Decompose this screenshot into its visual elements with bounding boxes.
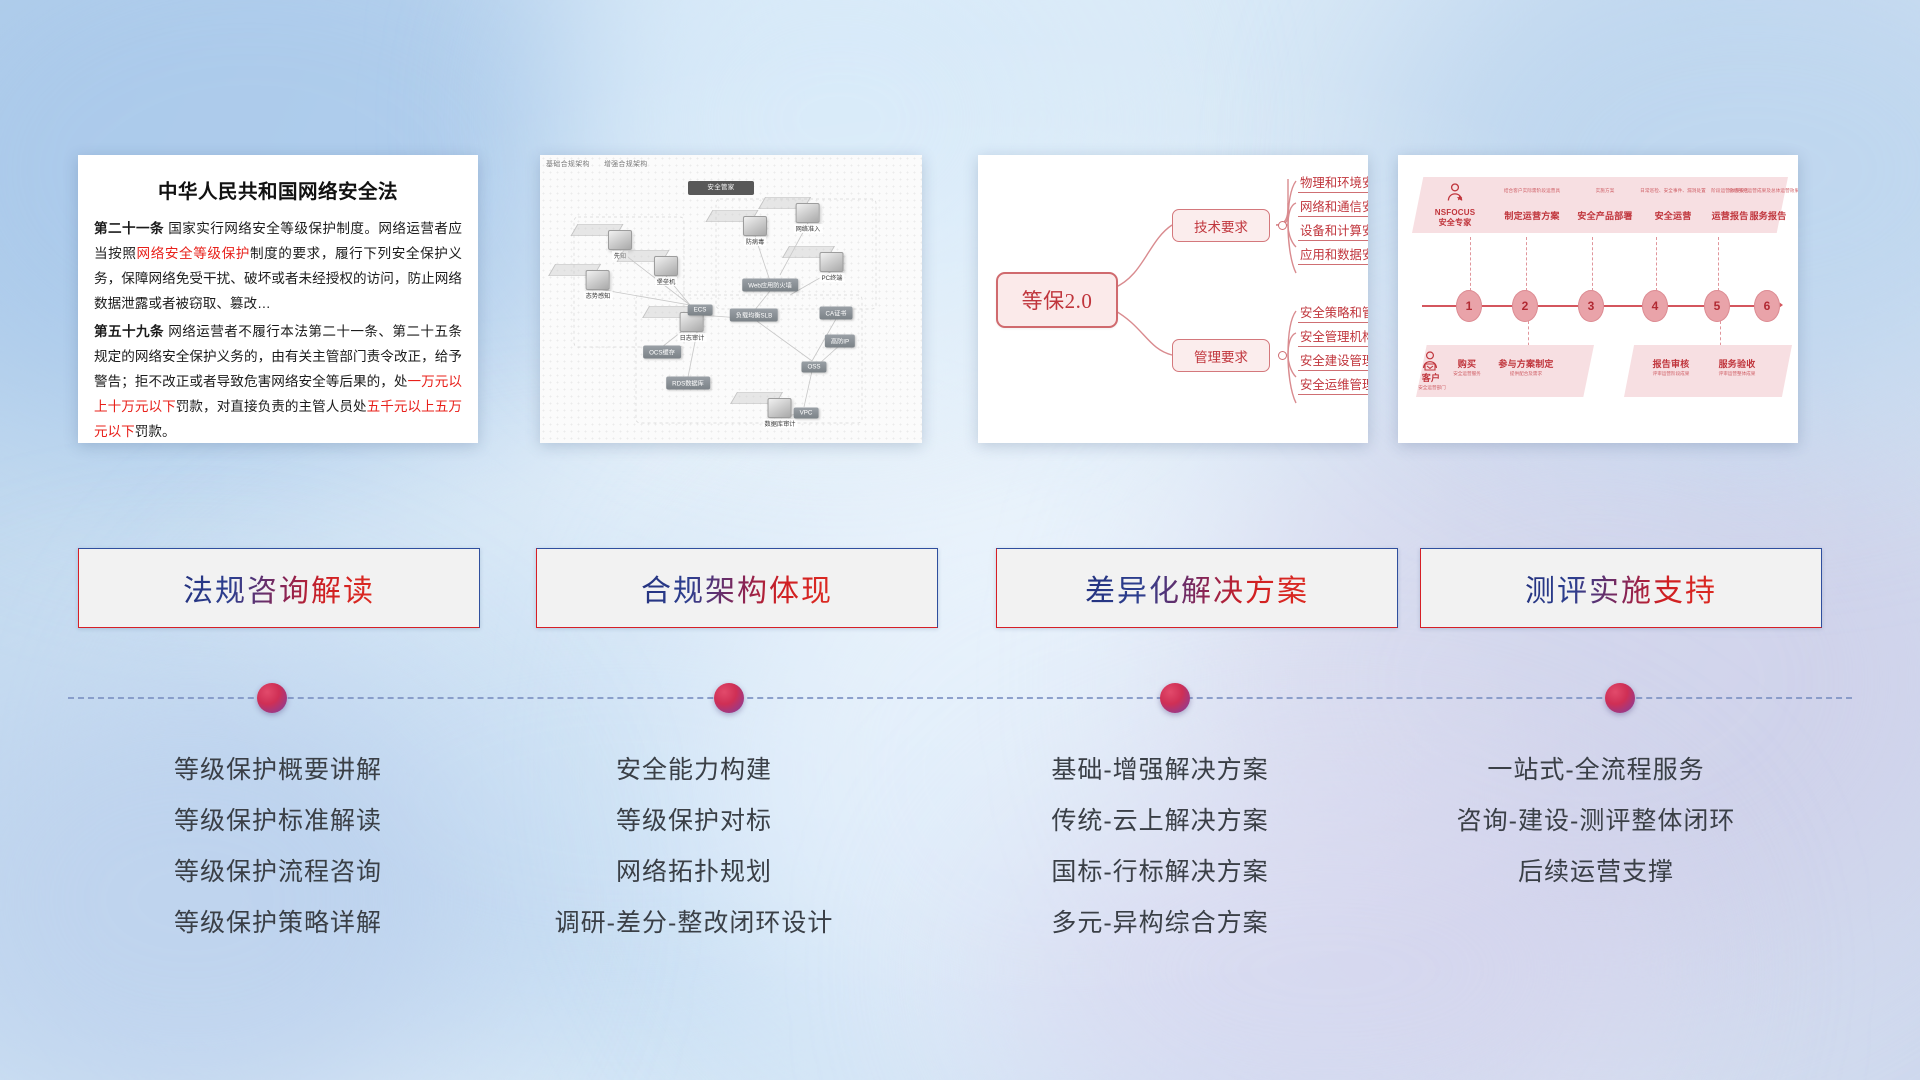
nsfocus-step-number: 6: [1764, 299, 1771, 313]
nsfocus-bottom-step-name: 服务验收: [1712, 357, 1762, 370]
nsfocus-step-node[interactable]: 2: [1512, 290, 1538, 322]
mindmap-leaf: 安全运维管理: [1298, 375, 1368, 395]
mindmap-leaf: 物理和环境安全: [1298, 173, 1368, 193]
law-article-59: 第五十九条 网络运营者不履行本法第二十一条、第二十五条规定的网络安全保护义务的，…: [94, 319, 462, 443]
nsfocus-step-sub: 总结部分运营成果及总体运营效果: [1728, 188, 1798, 194]
law-article-59-text-b: 罚款，对直接负责的主管人员处: [176, 399, 367, 414]
nsfocus-customer-label: 客户: [1418, 371, 1444, 384]
timeline-marker[interactable]: [257, 683, 287, 713]
nsfocus-bottom-step-name: 报告审核: [1646, 357, 1696, 370]
timeline-marker[interactable]: [1605, 683, 1635, 713]
architecture-node: 堡垒机: [654, 256, 678, 286]
title-box-differentiated-solution[interactable]: 差异化解决方案: [996, 548, 1398, 628]
list-item: 等级保护概要讲解: [58, 745, 498, 796]
nsfocus-tick: [1470, 237, 1472, 291]
list-item: 国标-行标解决方案: [940, 847, 1380, 898]
title-text: 法规咨询解读: [183, 566, 375, 610]
title-text: 差异化解决方案: [1085, 566, 1309, 610]
architecture-node-cube: [768, 398, 792, 418]
architecture-node-label: 防病毒: [744, 237, 767, 246]
architecture-service-pill: ECS: [688, 305, 713, 316]
mindmap-branch-technical[interactable]: 技术要求: [1172, 209, 1270, 242]
nsfocus-bottom-step-name: 购买: [1452, 357, 1482, 370]
architecture-node-label: 堡垒机: [655, 277, 678, 286]
law-title: 中华人民共和国网络安全法: [94, 175, 462, 204]
list-item: 咨询-建设-测评整体闭环: [1376, 796, 1816, 847]
nsfocus-expert-block: NSFOCUS 安全专家: [1428, 183, 1482, 228]
law-body: 中华人民共和国网络安全法 第二十一条 国家实行网络安全等级保护制度。网络运营者应…: [78, 155, 478, 443]
mindmap-leaf: 网络和通信安全: [1298, 197, 1368, 217]
title-box-compliance-architecture[interactable]: 合规架构体现: [536, 548, 938, 628]
nsfocus-step-number: 5: [1714, 299, 1721, 313]
nsfocus-tick: [1656, 237, 1658, 291]
expert-person-icon: [1444, 183, 1466, 203]
nsfocus-bottom-step-sub: 提供配合及需求: [1492, 371, 1560, 377]
nsfocus-bottom-step-name: 参与方案制定: [1492, 357, 1560, 370]
nsfocus-step-node[interactable]: 6: [1754, 290, 1780, 322]
architecture-service-pill: OCS缓存: [643, 346, 681, 359]
architecture-node-label: 网络准入: [794, 224, 823, 233]
timeline-marker[interactable]: [1160, 683, 1190, 713]
mindmap-leaf: 安全策略和管理制度: [1298, 303, 1368, 323]
nsfocus-step-number: 2: [1522, 299, 1529, 313]
architecture-node: 态势感知: [584, 270, 613, 300]
architecture-service-pill: VPC: [794, 408, 819, 419]
architecture-node: 数据库审计: [763, 398, 798, 428]
architecture-node: 日志审计: [678, 312, 707, 342]
nsfocus-tick: [1718, 237, 1720, 291]
list-compliance-architecture: 安全能力构建 等级保护对标 网络拓扑规划 调研-差分-整改闭环设计: [474, 745, 914, 949]
list-regulation-consulting: 等级保护概要讲解 等级保护标准解读 等级保护流程咨询 等级保护策略详解: [58, 745, 498, 949]
architecture-node-label: 日志审计: [678, 333, 707, 342]
nsfocus-bottom-step-sub: 评审运营阶段成果: [1638, 371, 1704, 377]
card-architecture-diagram[interactable]: 基础合规架构增强合规架构 安全管家: [540, 155, 922, 443]
architecture-service-pill: RDS数据库: [666, 377, 710, 390]
nsfocus-step-number: 4: [1652, 299, 1659, 313]
law-article-21: 第二十一条 国家实行网络安全等级保护制度。网络运营者应当按照网络安全等级保护制度…: [94, 216, 462, 316]
nsfocus-step-node[interactable]: 4: [1642, 290, 1668, 322]
nsfocus-step-name: 安全产品部署: [1570, 209, 1640, 222]
architecture-node: 网络准入: [794, 203, 823, 233]
law-article-21-highlight: 网络安全等级保护: [137, 246, 250, 261]
mindmap-leaf: 应用和数据安全: [1298, 245, 1368, 265]
nsfocus-step-node[interactable]: 3: [1578, 290, 1604, 322]
list-assessment-support: 一站式-全流程服务 咨询-建设-测评整体闭环 后续运营支撑: [1376, 745, 1816, 898]
nsfocus-step-number: 3: [1588, 299, 1595, 313]
nsfocus-bottom-step-sub: 评审运营整体成果: [1704, 371, 1770, 377]
nsfocus-step-name: 制定运营方案: [1494, 209, 1570, 222]
law-article-21-label: 第二十一条: [94, 221, 164, 236]
list-item: 后续运营支撑: [1376, 847, 1816, 898]
architecture-node: PC终端: [820, 252, 845, 282]
architecture-node-cube: [654, 256, 678, 276]
mindmap-branch-management[interactable]: 管理要求: [1172, 339, 1270, 372]
nsfocus-step-node[interactable]: 5: [1704, 290, 1730, 322]
architecture-node-cube: [586, 270, 610, 290]
nsfocus-canvas: NSFOCUS 安全专家 结合客户实际需阶段运营具 制定运营方案 实施方案 安全…: [1398, 155, 1798, 443]
nsfocus-brand: NSFOCUS: [1428, 208, 1482, 218]
law-article-59-label: 第五十九条: [94, 324, 164, 339]
architecture-service-pill: Web应用防火墙: [742, 279, 798, 292]
nsfocus-customer-sub: 安全运营部门: [1412, 385, 1452, 391]
mindmap-leaf: 安全管理机构和人员: [1298, 327, 1368, 347]
architecture-node: 防病毒: [743, 216, 767, 246]
title-text: 合规架构体现: [641, 566, 833, 610]
mindmap-leaf: 设备和计算安全: [1298, 221, 1368, 241]
list-item: 等级保护策略详解: [58, 898, 498, 949]
nsfocus-step-sub: 实施方案: [1574, 188, 1636, 194]
nsfocus-bottom-step-sub: 安全运营服务: [1444, 371, 1490, 377]
architecture-node-label: 态势感知: [584, 291, 613, 300]
list-item: 基础-增强解决方案: [940, 745, 1380, 796]
architecture-service-pill: 负载均衡SLB: [730, 309, 778, 322]
nsfocus-step-name: 服务报告: [1742, 209, 1794, 222]
timeline-rail: [68, 697, 1852, 699]
nsfocus-step-sub: 结合客户实际需阶段运营具: [1494, 188, 1570, 194]
architecture-node-cube: [796, 203, 820, 223]
list-item: 等级保护对标: [474, 796, 914, 847]
list-item: 一站式-全流程服务: [1376, 745, 1816, 796]
architecture-service-pill: CA证书: [820, 307, 853, 320]
nsfocus-tick: [1526, 237, 1528, 291]
nsfocus-step-number: 1: [1466, 299, 1473, 313]
architecture-canvas: 基础合规架构增强合规架构 安全管家: [540, 155, 922, 443]
architecture-service-pill: OSS: [801, 362, 826, 373]
card-law-document[interactable]: 中华人民共和国网络安全法 第二十一条 国家实行网络安全等级保护制度。网络运营者应…: [78, 155, 478, 443]
list-differentiated-solution: 基础-增强解决方案 传统-云上解决方案 国标-行标解决方案 多元-异构综合方案: [940, 745, 1380, 949]
mindmap-leaf: 安全建设管理: [1298, 351, 1368, 371]
timeline-marker[interactable]: [714, 683, 744, 713]
list-item: 等级保护流程咨询: [58, 847, 498, 898]
mindmap-collapse-icon[interactable]: [1278, 221, 1287, 230]
nsfocus-tick: [1592, 237, 1594, 291]
preview-card-row: 中华人民共和国网络安全法 第二十一条 国家实行网络安全等级保护制度。网络运营者应…: [0, 0, 1920, 460]
architecture-service-pill: 高防IP: [825, 335, 855, 348]
title-text: 测评实施支持: [1525, 566, 1717, 610]
nsfocus-step-node[interactable]: 1: [1456, 290, 1482, 322]
mindmap-collapse-icon[interactable]: [1278, 351, 1287, 360]
architecture-node-cube: [608, 230, 632, 250]
card-mindmap[interactable]: 等保2.0 技术要求 物理和环境安全 网络和通信安全 设备和计算安全 应用和数据…: [978, 155, 1368, 443]
list-item: 等级保护标准解读: [58, 796, 498, 847]
architecture-node-label: PC终端: [820, 273, 845, 282]
architecture-node-cube: [743, 216, 767, 236]
list-item: 安全能力构建: [474, 745, 914, 796]
title-box-assessment-support[interactable]: 测评实施支持: [1420, 548, 1822, 628]
list-item: 传统-云上解决方案: [940, 796, 1380, 847]
card-nsfocus-timeline[interactable]: NSFOCUS 安全专家 结合客户实际需阶段运营具 制定运营方案 实施方案 安全…: [1398, 155, 1798, 443]
list-item: 网络拓扑规划: [474, 847, 914, 898]
architecture-node-label: 数据库审计: [763, 419, 798, 428]
list-item: 调研-差分-整改闭环设计: [474, 898, 914, 949]
nsfocus-step-name: 安全运营: [1642, 209, 1704, 222]
law-article-59-text-c: 罚款。: [135, 424, 176, 439]
customer-person-icon: [1420, 351, 1440, 373]
nsfocus-expert-label: 安全专家: [1428, 218, 1482, 228]
architecture-node-cube: [820, 252, 844, 272]
list-item: 多元-异构综合方案: [940, 898, 1380, 949]
mindmap-canvas: 等保2.0 技术要求 物理和环境安全 网络和通信安全 设备和计算安全 应用和数据…: [978, 155, 1368, 443]
title-box-regulation-consulting[interactable]: 法规咨询解读: [78, 548, 480, 628]
mindmap-root-node[interactable]: 等保2.0: [996, 272, 1118, 328]
